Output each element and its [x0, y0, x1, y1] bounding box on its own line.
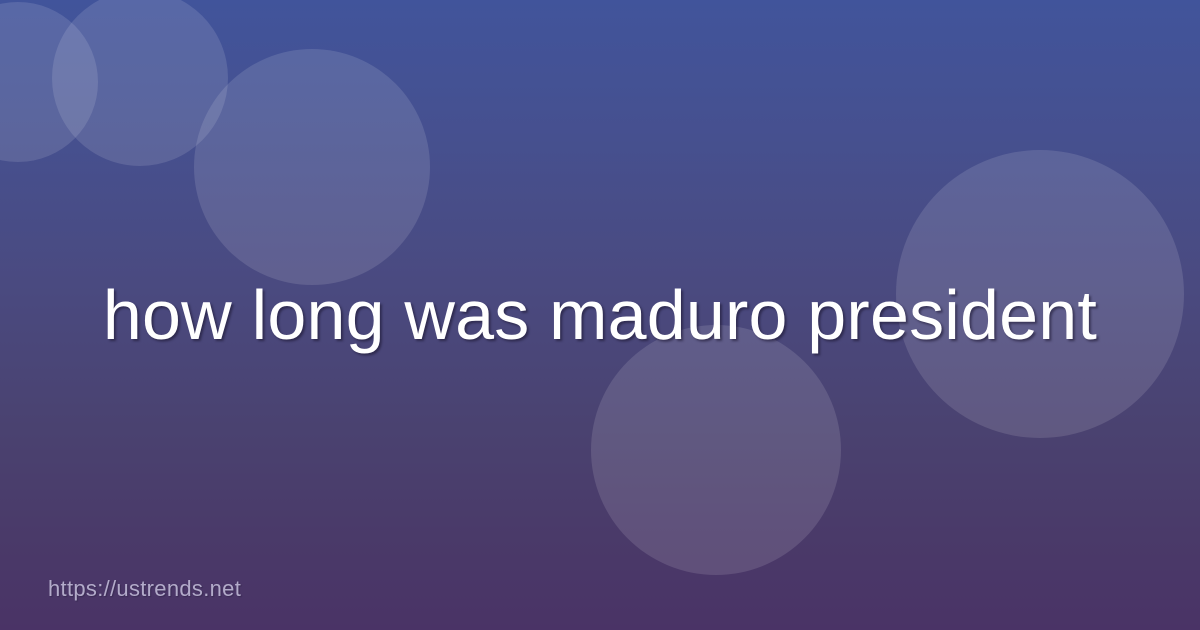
page-title: how long was maduro president	[103, 277, 1097, 354]
site-url-label: https://ustrends.net	[48, 576, 241, 602]
og-card: how long was maduro president https://us…	[0, 0, 1200, 630]
headline-container: how long was maduro president	[0, 0, 1200, 630]
